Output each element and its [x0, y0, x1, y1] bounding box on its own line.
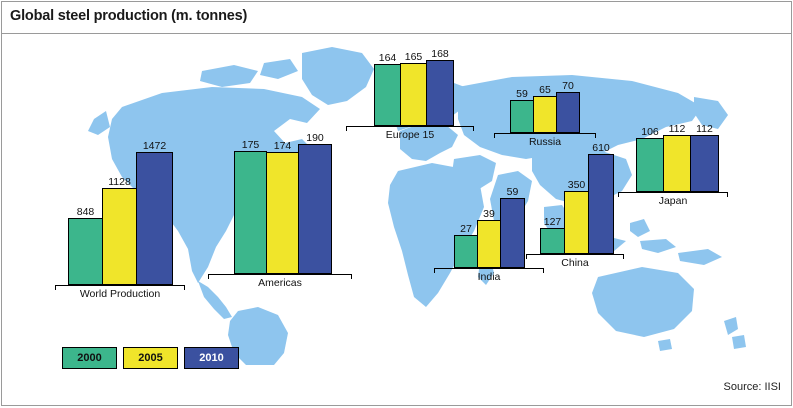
legend-item-2010[interactable]: 2010 [184, 347, 239, 369]
bar-japan-2000: 106 [636, 138, 664, 192]
group-label-russia: Russia [494, 136, 596, 148]
bar-india-2005: 39 [477, 220, 501, 268]
bar-india-2010: 59 [500, 198, 525, 268]
bar-japan-2005: 112 [663, 135, 691, 192]
bar-world-production-2005: 1128 [102, 188, 137, 285]
bar-value-label: 59 [516, 89, 528, 100]
bar-russia-2005: 65 [533, 96, 557, 133]
bar-china-2005: 350 [564, 191, 589, 254]
bar-world-production-2010: 1472 [136, 152, 173, 285]
group-label-japan: Japan [618, 195, 728, 207]
bar-group-world-production: 848 1128 1472 [68, 152, 174, 285]
bar-europe-15-2000: 164 [374, 64, 401, 126]
bar-americas-2000: 175 [234, 151, 267, 274]
bar-value-label: 106 [641, 127, 659, 138]
group-label-world-production: World Production [55, 288, 185, 300]
legend-item-2000[interactable]: 2000 [62, 347, 117, 369]
bar-value-label: 350 [568, 180, 586, 191]
legend-label: 2005 [138, 352, 162, 364]
bar-value-label: 112 [696, 124, 713, 135]
bar-value-label: 127 [544, 217, 562, 228]
bar-value-label: 610 [592, 143, 610, 154]
bar-value-label: 164 [379, 53, 397, 64]
source-note: Source: IISI [724, 381, 781, 393]
bar-americas-2005: 174 [266, 152, 299, 274]
bar-value-label: 190 [306, 133, 324, 144]
chart-frame: Global steel production (m. tonnes) [1, 1, 792, 406]
bar-value-label: 1128 [108, 177, 131, 188]
bar-americas-2010: 190 [298, 144, 332, 274]
legend: 2000 2005 2010 [62, 347, 239, 369]
bar-china-2000: 127 [540, 228, 565, 254]
bar-europe-15-2010: 168 [426, 60, 454, 126]
bar-value-label: 112 [669, 124, 686, 135]
bar-value-label: 70 [562, 81, 574, 92]
bar-group-europe-15: 164 165 168 [374, 60, 454, 126]
group-label-india: India [434, 271, 544, 283]
bar-value-label: 174 [274, 141, 292, 152]
group-label-china: China [526, 257, 624, 269]
bar-value-label: 1472 [143, 141, 166, 152]
legend-label: 2000 [77, 352, 101, 364]
bar-value-label: 175 [242, 140, 260, 151]
bar-value-label: 848 [77, 207, 95, 218]
legend-item-2005[interactable]: 2005 [123, 347, 178, 369]
bar-india-2000: 27 [454, 235, 478, 268]
bar-value-label: 39 [483, 209, 495, 220]
title-bar: Global steel production (m. tonnes) [2, 2, 791, 34]
bar-value-label: 27 [460, 224, 472, 235]
bar-group-india: 27 39 59 [454, 198, 526, 268]
bar-group-china: 127 350 610 [540, 154, 616, 254]
bar-russia-2010: 70 [556, 92, 580, 133]
legend-label: 2010 [199, 352, 223, 364]
bar-value-label: 65 [539, 85, 551, 96]
group-label-europe-15: Europe 15 [346, 129, 474, 141]
bar-group-japan: 106 112 112 [636, 135, 720, 192]
bar-world-production-2000: 848 [68, 218, 103, 285]
bar-group-russia: 59 65 70 [510, 92, 580, 133]
bar-value-label: 59 [507, 187, 519, 198]
bar-value-label: 165 [405, 52, 423, 63]
bar-china-2010: 610 [588, 154, 614, 254]
page-title: Global steel production (m. tonnes) [10, 8, 247, 24]
bar-value-label: 168 [431, 49, 449, 60]
bar-europe-15-2005: 165 [400, 63, 427, 126]
bar-russia-2000: 59 [510, 100, 534, 133]
bar-group-americas: 175 174 190 [234, 144, 332, 274]
bar-japan-2010: 112 [690, 135, 719, 192]
group-label-americas: Americas [208, 277, 352, 289]
